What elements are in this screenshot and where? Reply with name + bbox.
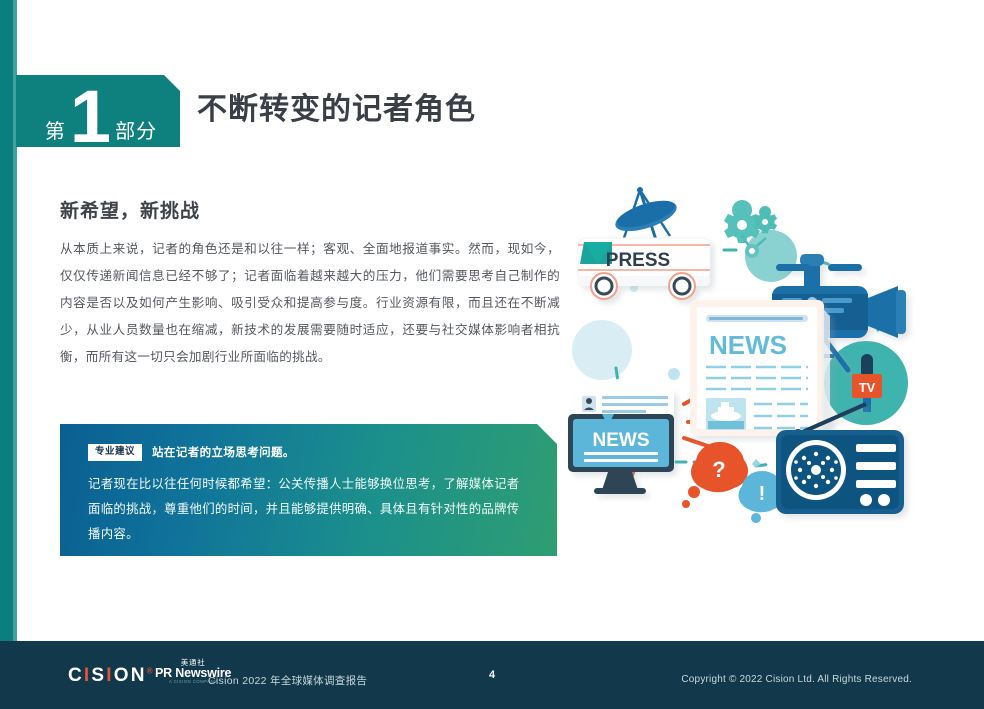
page-title: 不断转变的记者角色 xyxy=(197,84,476,128)
news-monitor-icon: NEWS xyxy=(568,390,674,494)
newspaper-label: NEWS xyxy=(709,330,787,360)
pro-tip-callout: 专业建议 站在记者的立场思考问题。 记者现在比以往任何时候都希望：公关传播人士能… xyxy=(60,424,557,556)
pro-tip-header: 专业建议 站在记者的立场思考问题。 xyxy=(88,444,295,461)
question-mark: ? xyxy=(712,457,725,482)
left-accent-bar xyxy=(0,0,13,641)
section-prefix: 第 xyxy=(45,122,66,142)
media-illustration: PRESS xyxy=(566,178,968,548)
satellite-dish-icon xyxy=(612,187,680,240)
tv-label: TV xyxy=(859,380,876,395)
footer-copyright: Copyright © 2022 Cision Ltd. All Rights … xyxy=(681,674,912,685)
press-van-icon: PRESS xyxy=(578,238,710,299)
decor-dot-1 xyxy=(668,368,680,380)
section-subheading: 新希望，新挑战 xyxy=(60,196,200,223)
section-suffix: 部分 xyxy=(115,122,157,142)
body-paragraph: 从本质上来说，记者的角色还是和以往一样；客观、全面地报道事实。然而，现如今，仅仅… xyxy=(60,236,560,371)
decor-circle-2 xyxy=(572,320,632,380)
exclamation-mark: ! xyxy=(759,483,766,505)
page-footer: CISION® 美通社 PR Newswire A CISION COMPANY… xyxy=(0,641,984,709)
monitor-label: NEWS xyxy=(593,430,650,451)
section-banner-content: 第 1 部分 xyxy=(16,60,186,150)
newspaper-icon: NEWS xyxy=(690,300,830,436)
pro-tip-badge: 专业建议 xyxy=(88,444,142,461)
section-number: 1 xyxy=(70,88,111,146)
pro-tip-title: 站在记者的立场思考问题。 xyxy=(152,444,295,460)
speech-bubbles-icon: ? ! xyxy=(682,442,785,523)
van-label: PRESS xyxy=(606,250,670,271)
pro-tip-body: 记者现在比以往任何时候都希望：公关传播人士能够换位思考，了解媒体记者面临的挑战，… xyxy=(88,472,528,546)
